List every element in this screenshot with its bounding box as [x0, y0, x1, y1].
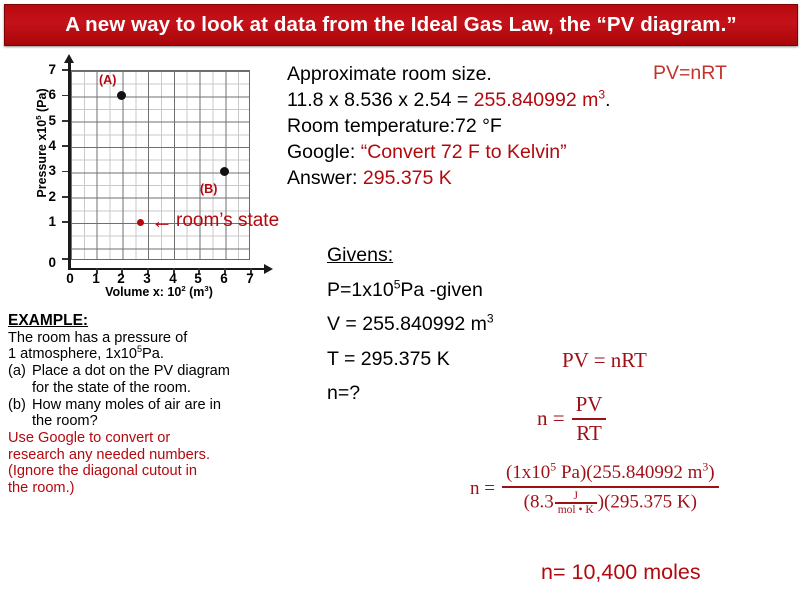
chart-x-tick-label: 3: [139, 271, 155, 286]
example-item-a-marker: (a): [8, 363, 32, 380]
room-state-annotation: room’s state: [176, 210, 279, 232]
example-note-line-2: research any needed numbers.: [8, 447, 328, 464]
units-numerator-joules: J: [568, 490, 582, 502]
givens-heading: Givens:: [327, 246, 494, 266]
left-arrow-icon: ←: [151, 210, 173, 232]
fraction-numerator-substituted: (1x105 Pa)(255.840992 m3): [502, 462, 719, 484]
x-axis-arrow-icon: [264, 264, 273, 274]
example-item-a-cont: for the state of the room.: [8, 380, 328, 397]
chart-x-tick-label: 2: [113, 271, 129, 286]
equation-n-equals-pv-over-rt: n = PV RT: [537, 392, 606, 446]
example-line-1: The room has a pressure of: [8, 330, 328, 347]
chart-x-tick-label: 7: [242, 271, 258, 286]
room-volume-calc-prefix: 11.8 x 8.536 x 2.54 =: [287, 89, 474, 111]
givens-block: Givens: P=1x105Pa -given V = 255.840992 …: [327, 246, 494, 404]
data-point-a-label: (A): [99, 73, 116, 87]
chart-x-tick-label: 4: [165, 271, 181, 286]
chart-y-tick-label: 1: [40, 214, 56, 229]
pv-nrt-callout: PV=nRT: [653, 62, 727, 85]
given-pressure-suffix: Pa -given: [400, 279, 482, 301]
example-line-2-prefix: 1 atmosphere, 1x10: [8, 346, 137, 362]
chart-y-tick-label: 5: [40, 113, 56, 128]
equation-n-lhs: n =: [537, 406, 565, 431]
equation-pv-nrt: PV = nRT: [562, 348, 647, 373]
given-pressure-prefix: P=1x10: [327, 279, 394, 301]
google-query-text: “Convert 72 F to Kelvin”: [361, 141, 567, 163]
chart-y-tick: [62, 171, 68, 173]
room-volume-value: 255.840992 m: [474, 89, 599, 111]
example-item-b-marker: (b): [8, 397, 32, 414]
pv-diagram-chart: Pressure x105 (Pa) 7 6 5 4 3 2 1 0 0 1 2…: [14, 58, 282, 306]
gas-constant-units-fraction: Jmol • K: [555, 490, 597, 516]
final-answer-moles: n= 10,400 moles: [541, 560, 701, 585]
example-item-a-text2: for the state of the room.: [32, 380, 328, 397]
room-volume-period: .: [605, 89, 610, 111]
example-item-b-text2: the room?: [32, 413, 328, 430]
chart-y-tick-label: 0: [40, 255, 56, 270]
example-line-2-suffix: Pa.: [142, 346, 164, 362]
room-size-block: Approximate room size. 11.8 x 8.536 x 2.…: [287, 62, 610, 192]
chart-x-axis-label: Volume x: 102 (m3): [54, 285, 264, 299]
chart-y-tick: [62, 196, 68, 198]
chart-y-tick-label: 4: [40, 138, 56, 153]
fraction-denominator-substituted: (8.3Jmol • K)(295.375 K): [520, 490, 701, 516]
room-volume-calc-line: 11.8 x 8.536 x 2.54 = 255.840992 m3.: [287, 88, 610, 114]
example-block: EXAMPLE: The room has a pressure of 1 at…: [8, 312, 328, 497]
chart-y-axis: [68, 62, 71, 270]
chart-y-tick: [62, 258, 68, 260]
chart-y-tick-label: 2: [40, 189, 56, 204]
google-label: Google:: [287, 141, 361, 163]
page-title: A new way to look at data from the Ideal…: [65, 13, 737, 37]
equation-n-substituted: n = (1x105 Pa)(255.840992 m3) (8.3Jmol •…: [470, 462, 719, 516]
fraction-bar-main: [502, 486, 719, 488]
num-part-b: Pa)(255.840992 m: [556, 462, 702, 483]
example-item-b-cont: the room?: [8, 413, 328, 430]
fraction-bar: [572, 418, 607, 420]
example-note-line-1: Use Google to convert or: [8, 430, 328, 447]
data-point-a: [117, 91, 126, 100]
answer-colon: :: [352, 167, 363, 189]
chart-x-tick-label: 6: [216, 271, 232, 286]
example-note-line-3: (Ignore the diagonal cutout in: [8, 463, 328, 480]
example-item-b-indent: [8, 413, 32, 430]
room-state-point: [137, 219, 144, 226]
example-heading: EXAMPLE:: [8, 312, 328, 330]
approx-room-size-line: Approximate room size.: [287, 62, 610, 88]
answer-kelvin-value: 295.375 K: [363, 167, 452, 189]
example-item-b: (b) How many moles of air are in: [8, 397, 328, 414]
y-axis-arrow-icon: [64, 54, 74, 63]
fraction-pv-rt: PV RT: [572, 392, 607, 446]
example-note-line-4: the room.): [8, 480, 328, 497]
fraction-denominator: RT: [572, 421, 606, 446]
title-banner: A new way to look at data from the Ideal…: [4, 4, 798, 46]
chart-y-tick: [62, 69, 68, 71]
chart-y-tick: [62, 120, 68, 122]
chart-y-tick: [62, 145, 68, 147]
given-temperature: T = 295.375 K: [327, 350, 494, 370]
units-denominator-mol-k: mol • K: [555, 504, 597, 516]
fraction-substituted: (1x105 Pa)(255.840992 m3) (8.3Jmol • K)(…: [502, 462, 719, 516]
chart-x-tick-label: 0: [62, 271, 78, 286]
chart-y-tick: [62, 221, 68, 223]
google-query-line: Google: “Convert 72 F to Kelvin”: [287, 140, 610, 166]
chart-y-tick-label: 7: [40, 62, 56, 77]
equation-big-lhs: n =: [470, 478, 495, 500]
example-item-a: (a) Place a dot on the PV diagram: [8, 363, 328, 380]
chart-x-tick-label: 1: [88, 271, 104, 286]
given-volume-prefix: V = 255.840992 m: [327, 313, 487, 335]
fraction-numerator: PV: [572, 392, 607, 417]
num-part-c: ): [708, 462, 714, 483]
answer-kelvin-line: Answer: 295.375 K: [287, 166, 610, 192]
given-volume-exponent: 3: [487, 312, 494, 326]
given-pressure: P=1x105Pa -given: [327, 281, 494, 301]
given-unknown-n: n=?: [327, 384, 494, 404]
chart-y-tick: [62, 95, 68, 97]
answer-label: Answer: [287, 167, 352, 189]
data-point-b: [220, 167, 229, 176]
room-temperature-line: Room temperature:72 °F: [287, 114, 610, 140]
chart-y-tick-label: 3: [40, 163, 56, 178]
den-part-a: (8.3: [524, 491, 554, 512]
chart-y-tick-label: 6: [40, 87, 56, 102]
chart-x-axis: [68, 268, 266, 271]
example-item-a-indent: [8, 380, 32, 397]
given-volume: V = 255.840992 m3: [327, 315, 494, 335]
example-item-b-text: How many moles of air are in: [32, 397, 328, 414]
num-part-a: (1x10: [506, 462, 550, 483]
den-part-b: )(295.375 K): [598, 491, 697, 512]
example-item-a-text: Place a dot on the PV diagram: [32, 363, 328, 380]
example-line-2: 1 atmosphere, 1x105Pa.: [8, 346, 328, 363]
data-point-b-label: (B): [200, 182, 217, 196]
